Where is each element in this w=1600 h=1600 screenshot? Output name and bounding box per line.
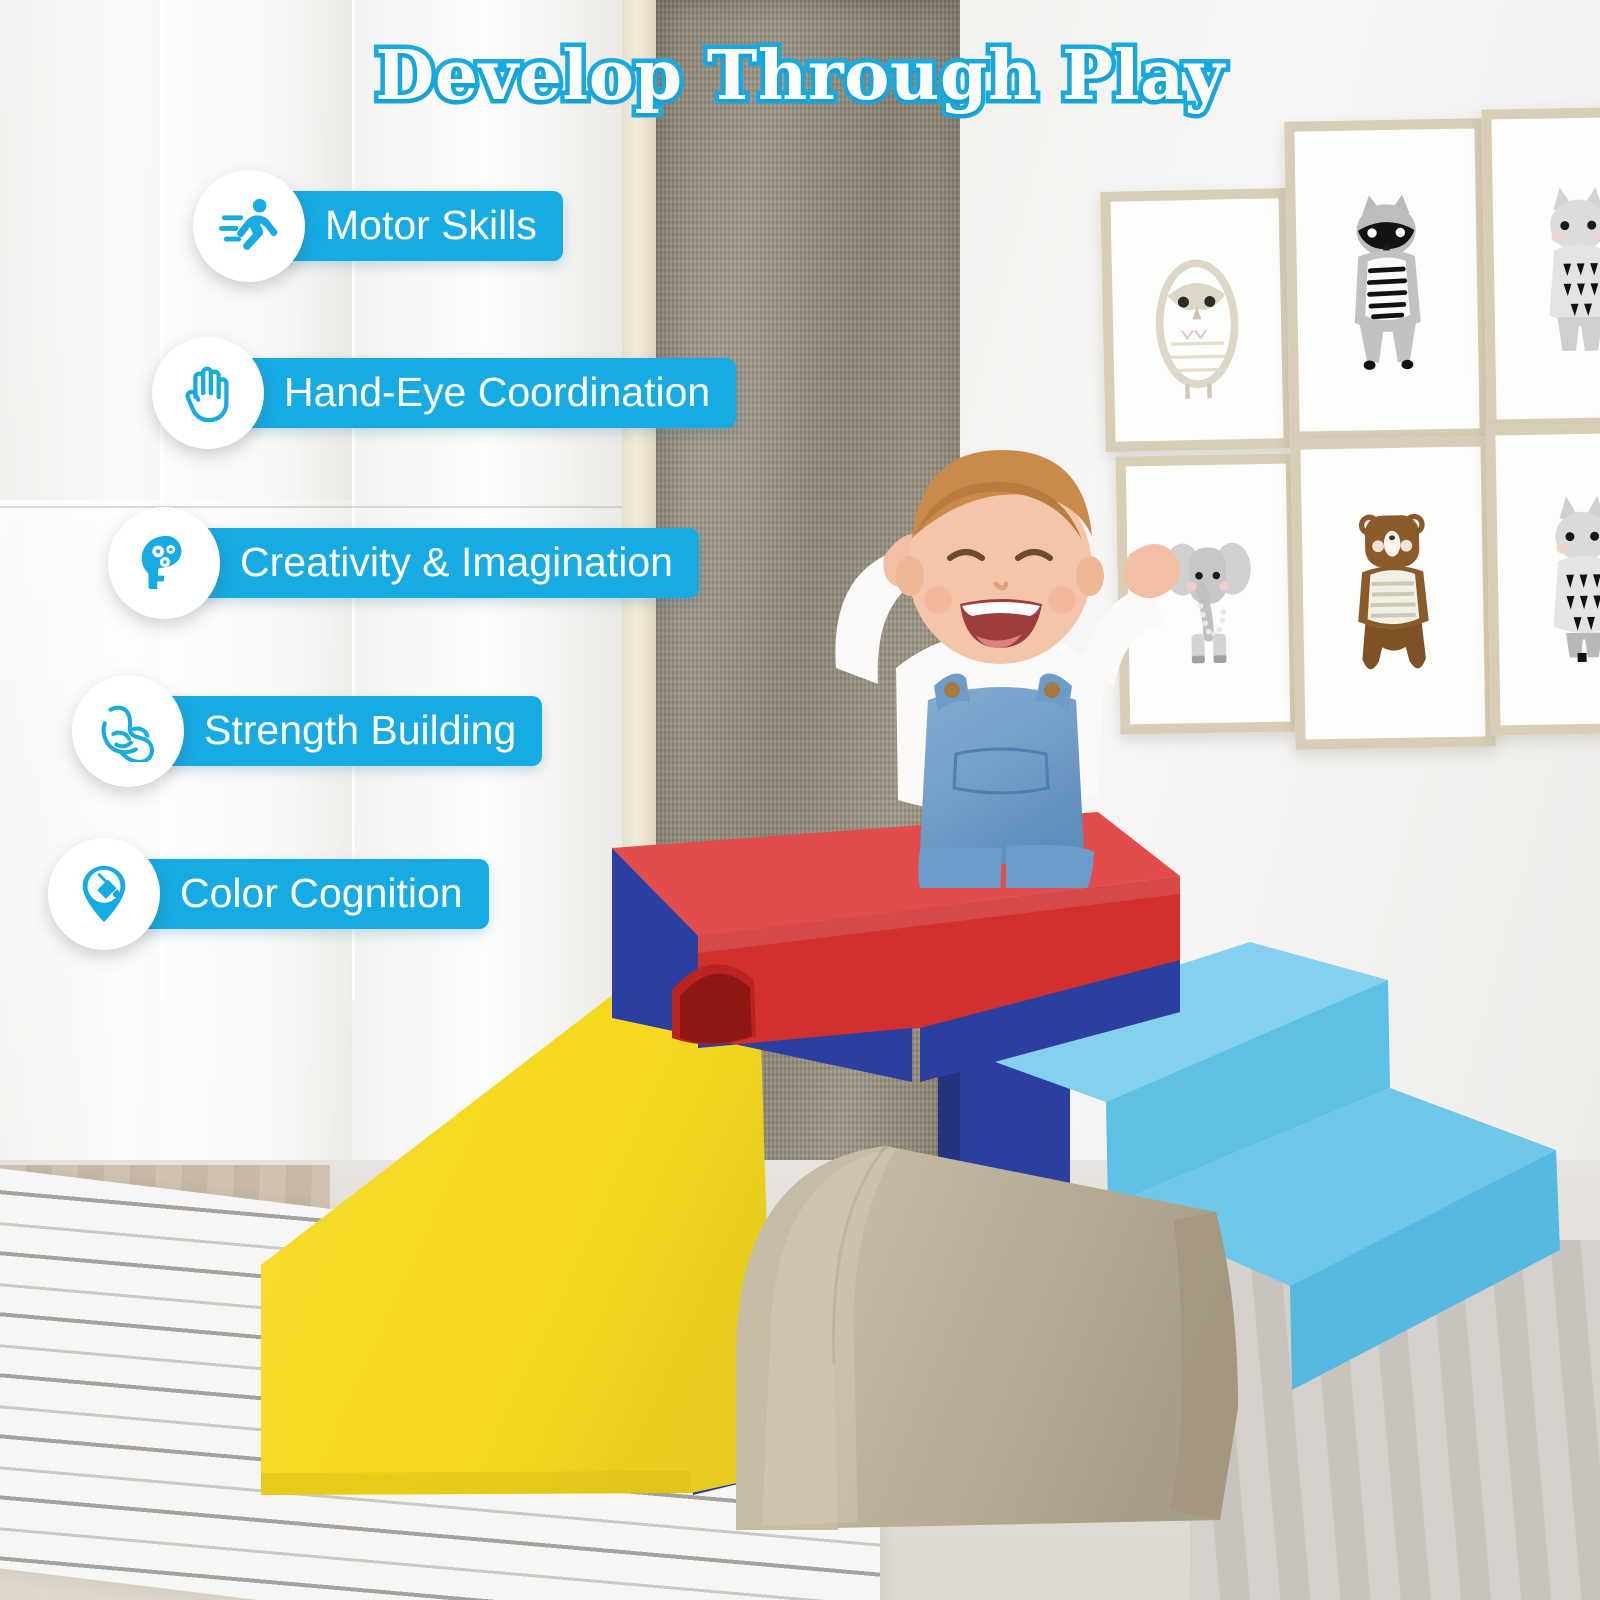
feature-badge-strength-building[interactable]: Strength Building <box>72 675 542 787</box>
hand-icon <box>152 337 264 449</box>
feature-badge-hand-eye-coordination[interactable]: Hand-Eye Coordination <box>152 337 736 449</box>
product-lifestyle-image: Develop Through Play Motor Skills <box>0 0 1600 1600</box>
head-gears-icon <box>108 507 220 619</box>
feature-label: Hand-Eye Coordination <box>238 358 736 428</box>
feature-label: Creativity & Imagination <box>194 528 699 598</box>
feature-label: Strength Building <box>158 696 542 766</box>
page-title: Develop Through Play <box>0 36 1600 116</box>
feature-badge-creativity-imagination[interactable]: Creativity & Imagination <box>108 507 699 619</box>
feature-badge-color-cognition[interactable]: Color Cognition <box>48 838 489 950</box>
feature-badge-motor-skills[interactable]: Motor Skills <box>193 170 563 282</box>
flexed-bicep-icon <box>72 675 184 787</box>
feature-label: Color Cognition <box>134 859 489 929</box>
tan-tunnel-arch-piece <box>700 1060 1320 1540</box>
baby-photo <box>800 418 1200 888</box>
feature-label: Motor Skills <box>279 191 563 261</box>
running-person-icon <box>193 170 305 282</box>
paint-bucket-pin-icon <box>48 838 160 950</box>
